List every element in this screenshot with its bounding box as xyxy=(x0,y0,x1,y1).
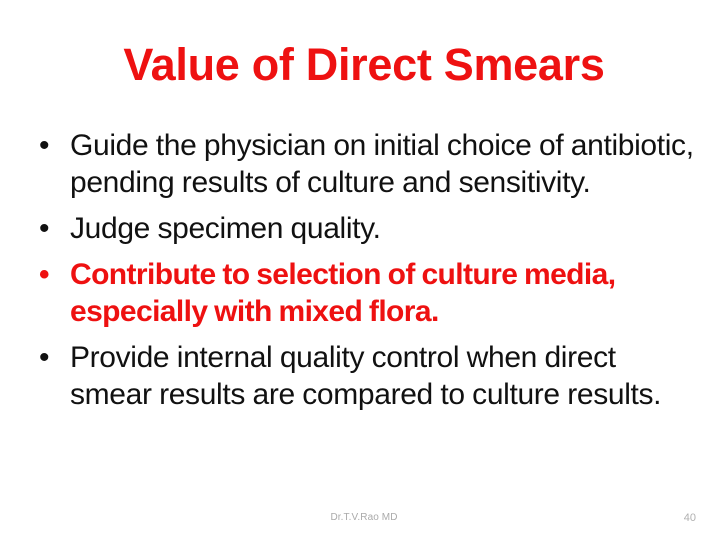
bullet-point-icon: • xyxy=(34,256,70,293)
page-title: Value of Direct Smears xyxy=(0,38,728,92)
list-item: • Guide the physician on initial choice … xyxy=(34,127,702,201)
list-item-text: Guide the physician on initial choice of… xyxy=(70,127,702,201)
list-item: • Provide internal quality control when … xyxy=(34,339,702,413)
bullet-point-icon: • xyxy=(34,127,70,164)
list-item-text: Judge specimen quality. xyxy=(70,210,702,247)
list-item: • Judge specimen quality. xyxy=(34,210,702,247)
list-item-text: Provide internal quality control when di… xyxy=(70,339,702,413)
list-item-highlighted: • Contribute to selection of culture med… xyxy=(34,256,702,330)
list-item-text: Contribute to selection of culture media… xyxy=(70,256,702,330)
bullet-point-icon: • xyxy=(34,210,70,247)
slide-number: 40 xyxy=(600,511,696,525)
bullet-list: • Guide the physician on initial choice … xyxy=(34,127,702,413)
slide-canvas: Value of Direct Smears • Guide the physi… xyxy=(0,0,728,546)
bullet-point-icon: • xyxy=(34,339,70,376)
